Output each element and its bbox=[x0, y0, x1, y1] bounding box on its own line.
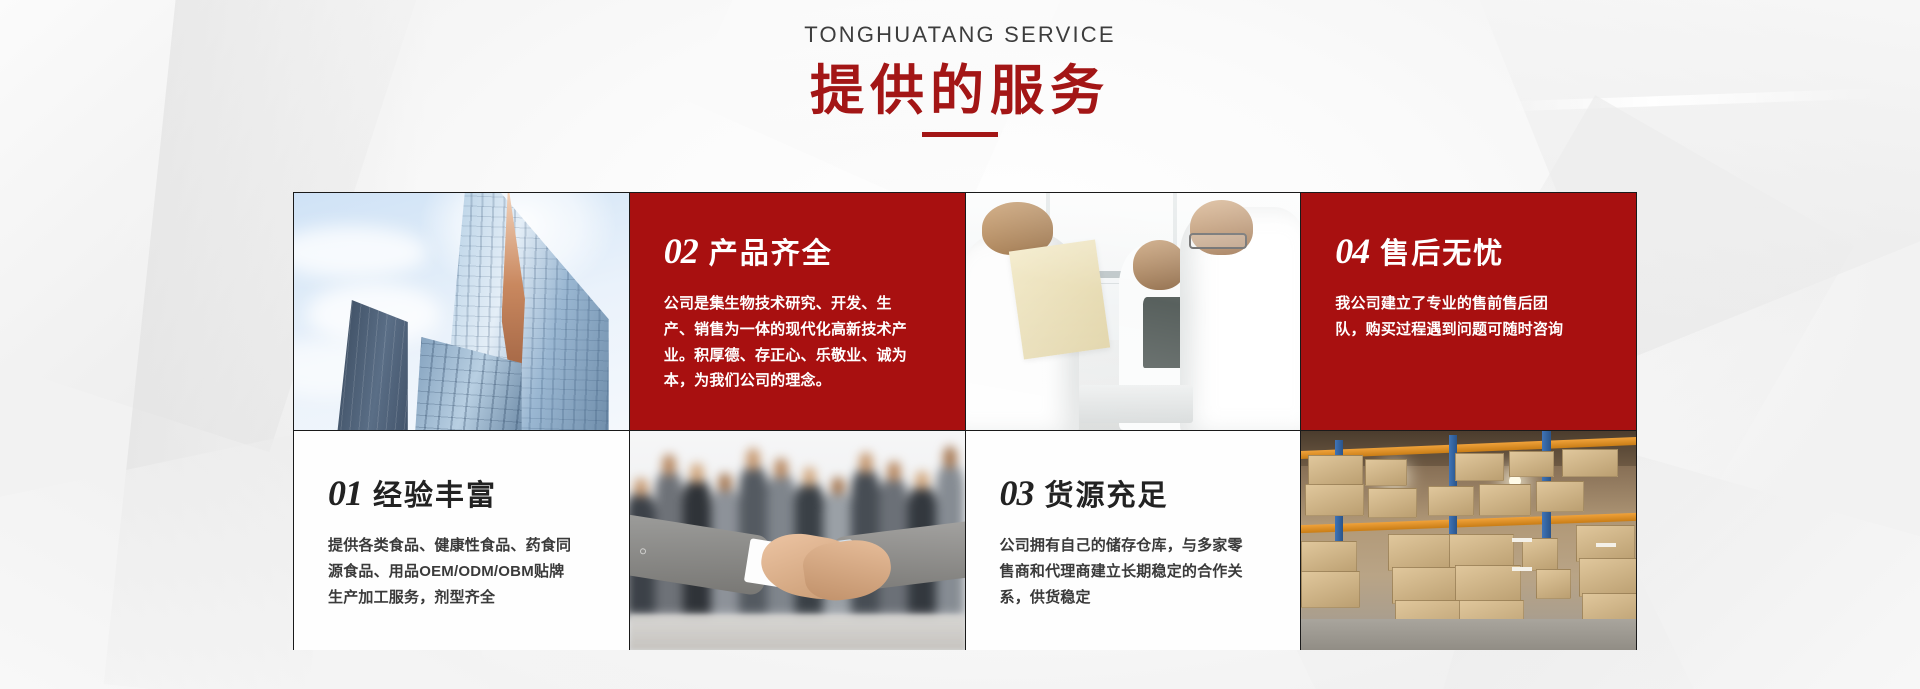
card-description: 公司拥有自己的储存仓库，与多家零售商和代理商建立长期稳定的合作关系，供货稳定 bbox=[1000, 533, 1248, 610]
sleeve-button bbox=[640, 548, 647, 555]
crowd-person-head bbox=[718, 473, 732, 492]
crowd-person-head bbox=[915, 471, 929, 490]
team-meeting-photo bbox=[966, 193, 1301, 430]
foreground-carton bbox=[1536, 569, 1571, 599]
card-number: 03 bbox=[1000, 475, 1034, 511]
service-card-04[interactable]: 04 售后无忧 我公司建立了专业的售前售后团队，购买过程遇到问题可随时咨询 bbox=[1301, 193, 1636, 430]
crowd-person-head bbox=[831, 477, 845, 496]
crowd-person-head bbox=[803, 467, 817, 487]
carton-label bbox=[1512, 538, 1532, 542]
card-title-text: 售后无忧 bbox=[1380, 240, 1504, 269]
card-description: 公司是集生物技术研究、开发、生产、销售为一体的现代化高新技术产业。积厚德、存正心… bbox=[664, 291, 912, 394]
card-number: 01 bbox=[328, 475, 362, 511]
card-title-text: 经验丰富 bbox=[373, 482, 497, 511]
photo-haze-overlay bbox=[966, 193, 1301, 430]
crowd-person-head bbox=[859, 452, 873, 474]
carton-label bbox=[1596, 543, 1616, 547]
stored-carton bbox=[1305, 484, 1364, 517]
warehouse-photo bbox=[1301, 431, 1636, 650]
stored-carton bbox=[1509, 451, 1555, 477]
warehouse-floor bbox=[1301, 619, 1636, 650]
stored-carton bbox=[1301, 571, 1360, 608]
card-heading: 03 货源充足 bbox=[1000, 475, 1267, 511]
service-grid: 02 产品齐全 公司是集生物技术研究、开发、生产、销售为一体的现代化高新技术产业… bbox=[293, 192, 1637, 650]
card-description: 我公司建立了专业的售前售后团队，购买过程遇到问题可随时咨询 bbox=[1335, 291, 1565, 343]
section-header: TONGHUATANG SERVICE 提供的服务 bbox=[0, 0, 1920, 150]
crowd-person-head bbox=[943, 446, 957, 469]
service-card-02[interactable]: 02 产品齐全 公司是集生物技术研究、开发、生产、销售为一体的现代化高新技术产业… bbox=[630, 193, 965, 430]
crowd-person-head bbox=[774, 458, 788, 479]
stored-carton bbox=[1536, 481, 1585, 511]
foreground-carton bbox=[1455, 565, 1521, 604]
service-card-03[interactable]: 03 货源充足 公司拥有自己的储存仓库，与多家零售商和代理商建立长期稳定的合作关… bbox=[966, 431, 1301, 650]
foreground-carton bbox=[1388, 534, 1457, 571]
stored-carton bbox=[1368, 488, 1417, 518]
foreground-carton bbox=[1579, 558, 1636, 597]
handshake-photo bbox=[630, 431, 965, 650]
card-description: 提供各类食品、健康性食品、药食同源食品、用品OEM/ODM/OBM贴牌生产加工服… bbox=[328, 533, 578, 610]
card-title-text: 货源充足 bbox=[1045, 482, 1169, 511]
stored-carton bbox=[1479, 484, 1531, 517]
section-subtitle-english: TONGHUATANG SERVICE bbox=[0, 0, 1920, 46]
cloud-shape bbox=[294, 226, 428, 278]
page-title: 提供的服务 bbox=[0, 46, 1920, 120]
crowd-person-head bbox=[690, 463, 704, 483]
office-building-photo bbox=[294, 193, 629, 430]
stored-carton bbox=[1365, 459, 1407, 485]
carton-label bbox=[1512, 567, 1532, 571]
crowd-person-head bbox=[634, 478, 648, 496]
card-heading: 01 经验丰富 bbox=[328, 475, 595, 511]
card-heading: 02 产品齐全 bbox=[664, 233, 931, 269]
card-heading: 04 售后无忧 bbox=[1335, 233, 1602, 269]
handshake-group bbox=[630, 519, 965, 620]
card-number: 04 bbox=[1335, 233, 1369, 269]
floor-blur bbox=[630, 615, 965, 650]
stored-carton bbox=[1428, 486, 1474, 516]
card-number: 02 bbox=[664, 233, 698, 269]
grid-cell-office-building bbox=[294, 193, 629, 430]
stored-carton bbox=[1301, 541, 1357, 576]
crowd-person-head bbox=[662, 454, 676, 476]
stored-carton bbox=[1455, 453, 1504, 481]
grid-cell-handshake bbox=[630, 431, 965, 650]
grid-cell-team-meeting bbox=[966, 193, 1301, 430]
stored-carton bbox=[1562, 449, 1618, 477]
grid-cell-warehouse bbox=[1301, 431, 1636, 650]
foreground-carton bbox=[1392, 567, 1461, 604]
service-card-01[interactable]: 01 经验丰富 提供各类食品、健康性食品、药食同源食品、用品OEM/ODM/OB… bbox=[294, 431, 629, 650]
crowd-person-head bbox=[887, 461, 901, 482]
stored-carton bbox=[1308, 455, 1364, 485]
title-underline-accent bbox=[922, 132, 998, 137]
card-title-text: 产品齐全 bbox=[709, 240, 833, 269]
crowd-person-head bbox=[746, 448, 760, 471]
